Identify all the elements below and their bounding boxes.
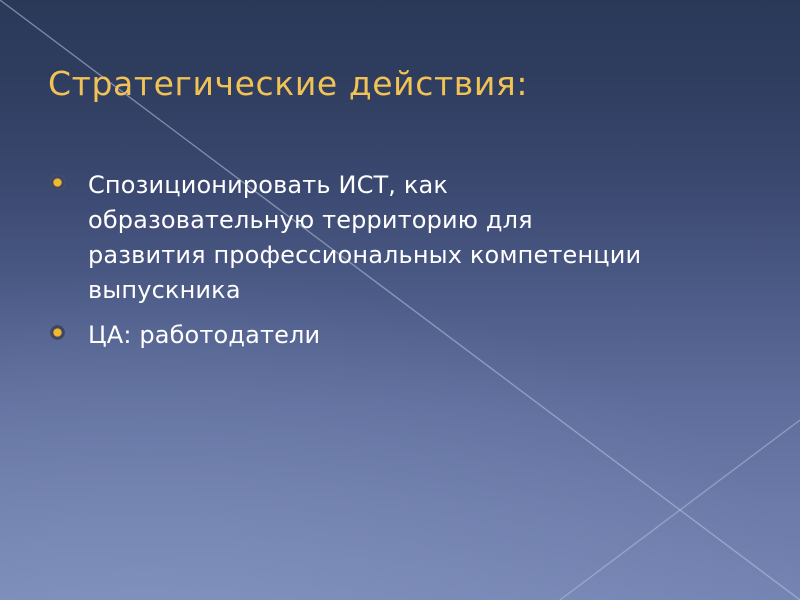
ring-dot-bullet-icon <box>50 325 65 340</box>
list-item-label: ЦА: работодатели <box>88 318 648 353</box>
page-title: Стратегические действия: <box>48 62 748 106</box>
title-placeholder: Стратегические действия: <box>48 62 748 114</box>
diagonal-line-secondary <box>560 420 800 600</box>
list-item: Спозиционировать ИСТ, как образовательну… <box>44 168 684 308</box>
list-item-label: Спозиционировать ИСТ, как образовательну… <box>88 168 648 308</box>
content-placeholder: Спозиционировать ИСТ, как образовательну… <box>44 168 684 363</box>
ring-dot-bullet-icon <box>50 175 65 190</box>
presentation-slide: Стратегические действия: Спозиционироват… <box>0 0 800 600</box>
list-item: ЦА: работодатели <box>44 318 684 353</box>
